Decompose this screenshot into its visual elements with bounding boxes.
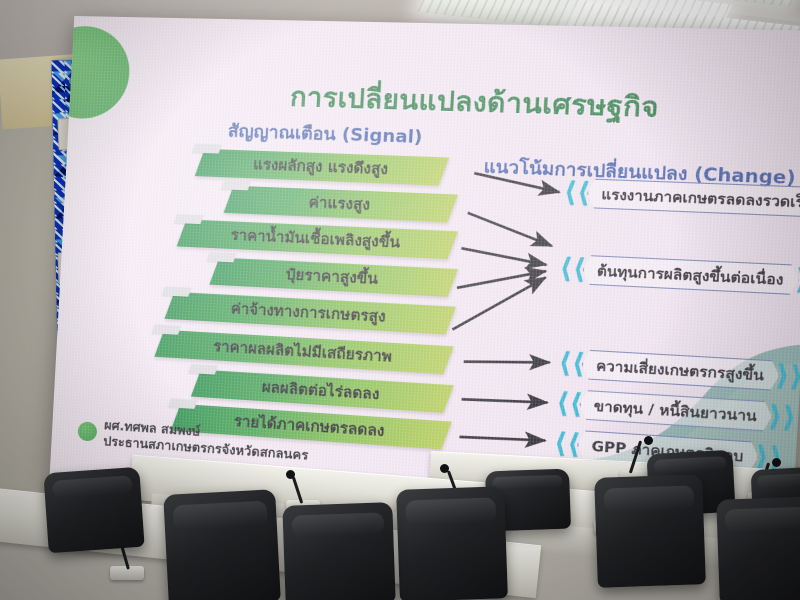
change-chip-label: ต้นทุนการผลิตสูงขึ้นต่อเนื่อง (582, 255, 800, 295)
chevron-left-icon: ⟨⟨ (555, 389, 583, 418)
chevron-right-icon: ⟩⟩ (768, 402, 797, 432)
office-chair (716, 496, 800, 600)
decorative-bullet-dot (77, 421, 97, 441)
signal-banner-label: ปุ๋ยราคาสูงขึ้น (286, 263, 379, 291)
chevron-left-icon: ⟨⟨ (559, 255, 587, 284)
signal-banner[interactable]: ค่าจ้างทางการเกษตรสูง (165, 292, 457, 334)
chevron-left-icon: ⟨⟨ (563, 179, 591, 208)
change-chip[interactable]: ⟨⟨ ต้นทุนการผลิตสูงขึ้นต่อเนื่อง ⟩⟩ (559, 255, 800, 295)
chevron-left-icon: ⟨⟨ (558, 349, 586, 378)
signal-banner-label: ผลผลิตต่อไร่ลดลง (261, 375, 380, 406)
office-chair (163, 489, 281, 600)
signal-banner-label: ค่าแรงสูง (308, 191, 371, 217)
office-chair (594, 474, 706, 588)
office-chair (282, 502, 395, 600)
signal-banner-label: ราคาน้ำมันเชื้อเพลิงสูงขึ้น (231, 223, 402, 254)
office-chair (396, 486, 508, 600)
office-chair (43, 467, 144, 554)
signal-banner[interactable]: ค่าแรงสูง (224, 186, 458, 223)
signal-banner-label: แรงผลักสูง แรงดึงสูง (253, 153, 389, 182)
chevron-left-icon: ⟨⟨ (553, 430, 581, 459)
signal-banner-label: ราคาผลผลิตไม่มีเสถียรภาพ (212, 335, 392, 369)
signal-banner[interactable]: ปุ๋ยราคาสูงขึ้น (209, 258, 458, 297)
signal-banner-label: ค่าจ้างทางการเกษตรสูง (230, 297, 386, 329)
conference-room-scene: การเปลี่ยนแปลงด้านเศรษฐกิจ สัญญาณเตือน (… (0, 0, 800, 600)
